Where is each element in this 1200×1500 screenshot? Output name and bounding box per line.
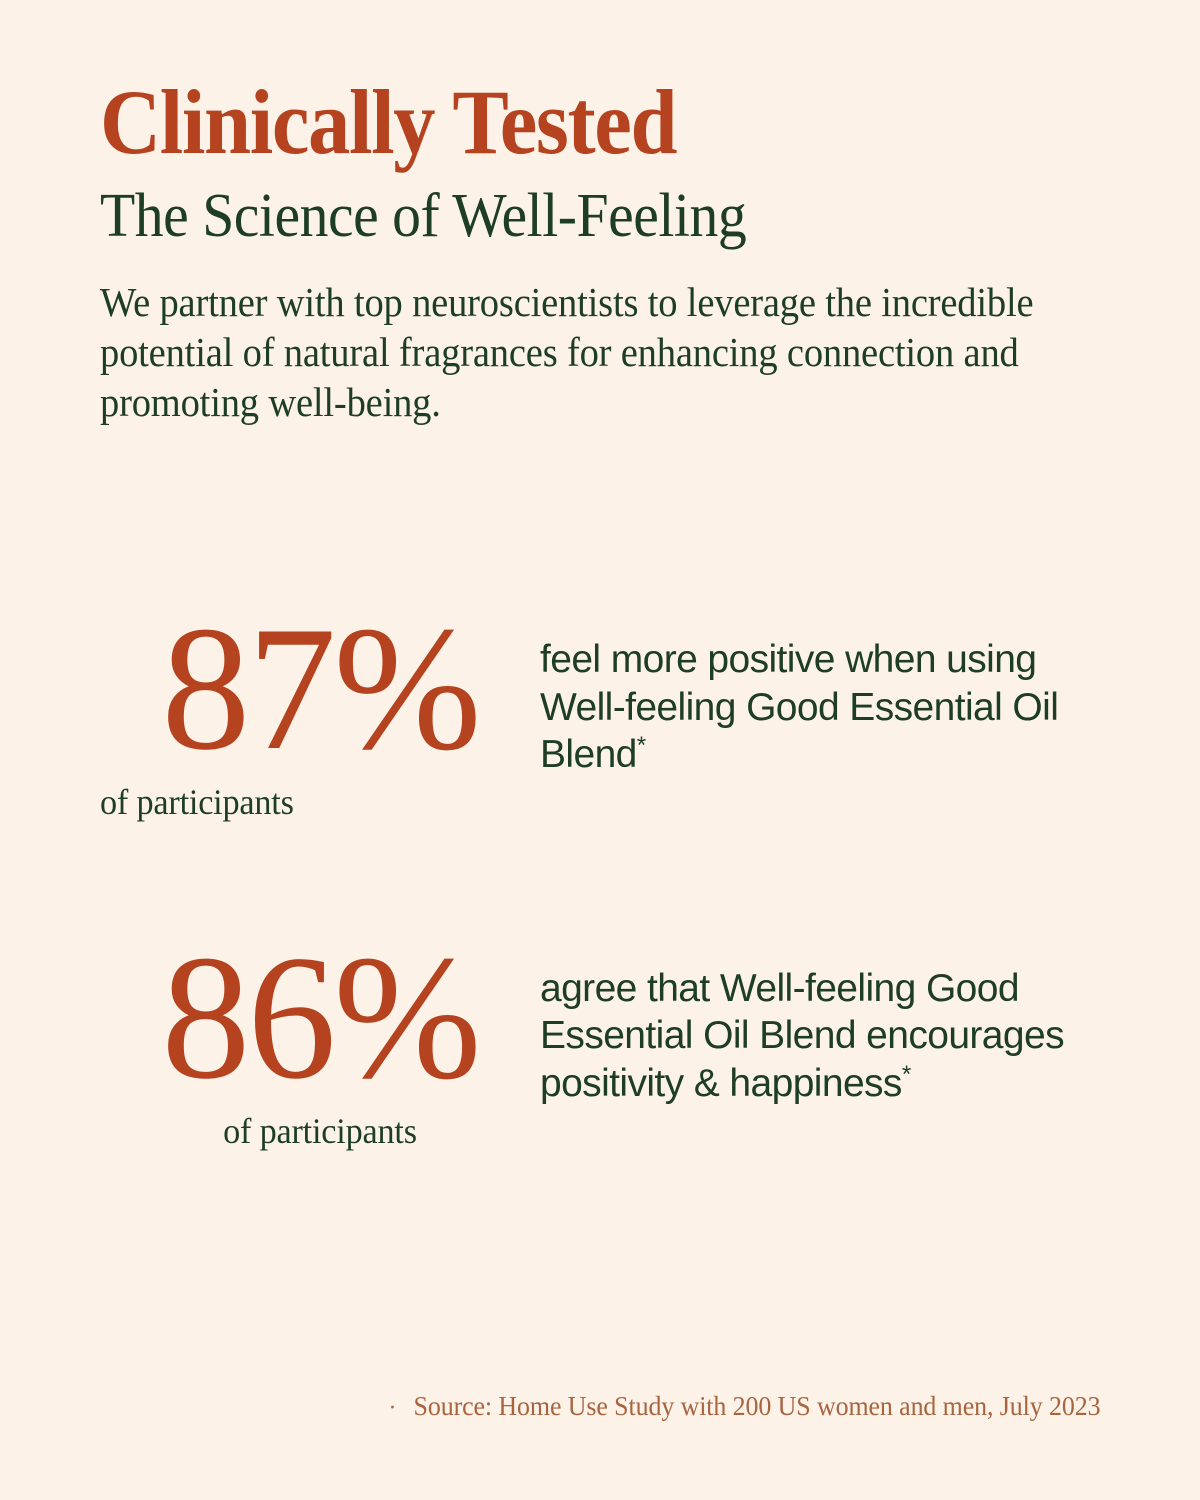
footnote-marker-86: * [902, 1061, 911, 1088]
stat-value-86: 86% [161, 941, 478, 1094]
stat-description-text-86: agree that Well-feeling Good Essential O… [540, 967, 1064, 1105]
header-section: Clinically Tested The Science of Well-Fe… [100, 0, 1100, 427]
page-subtitle: The Science of Well-Feeling [100, 185, 1030, 247]
bullet-icon: · [388, 1396, 396, 1420]
footnote-marker-87: * [637, 732, 646, 759]
stat-figure-86: 86% of participants [100, 941, 540, 1152]
footnote: · Source: Home Use Study with 200 US wom… [388, 1390, 1100, 1422]
stat-caption-87: of participants [100, 783, 294, 823]
page-title: Clinically Tested [100, 78, 1020, 167]
footnote-text: Source: Home Use Study with 200 US women… [413, 1390, 1100, 1422]
stat-description-87: feel more positive when using Well-feeli… [540, 612, 1080, 779]
stat-caption-86: of participants [223, 1112, 417, 1152]
stat-figure-87: 87% of participants [100, 612, 540, 823]
stat-block-87: 87% of participants feel more positive w… [100, 612, 1100, 823]
intro-paragraph: We partner with top neuroscientists to l… [100, 277, 1040, 427]
stat-description-86: agree that Well-feeling Good Essential O… [540, 941, 1080, 1108]
stat-value-87: 87% [161, 612, 478, 765]
infographic-page: Clinically Tested The Science of Well-Fe… [0, 0, 1200, 1500]
statistics-section: 87% of participants feel more positive w… [100, 612, 1100, 1151]
stat-block-86: 86% of participants agree that Well-feel… [100, 941, 1100, 1152]
stat-description-text-87: feel more positive when using Well-feeli… [540, 638, 1058, 776]
